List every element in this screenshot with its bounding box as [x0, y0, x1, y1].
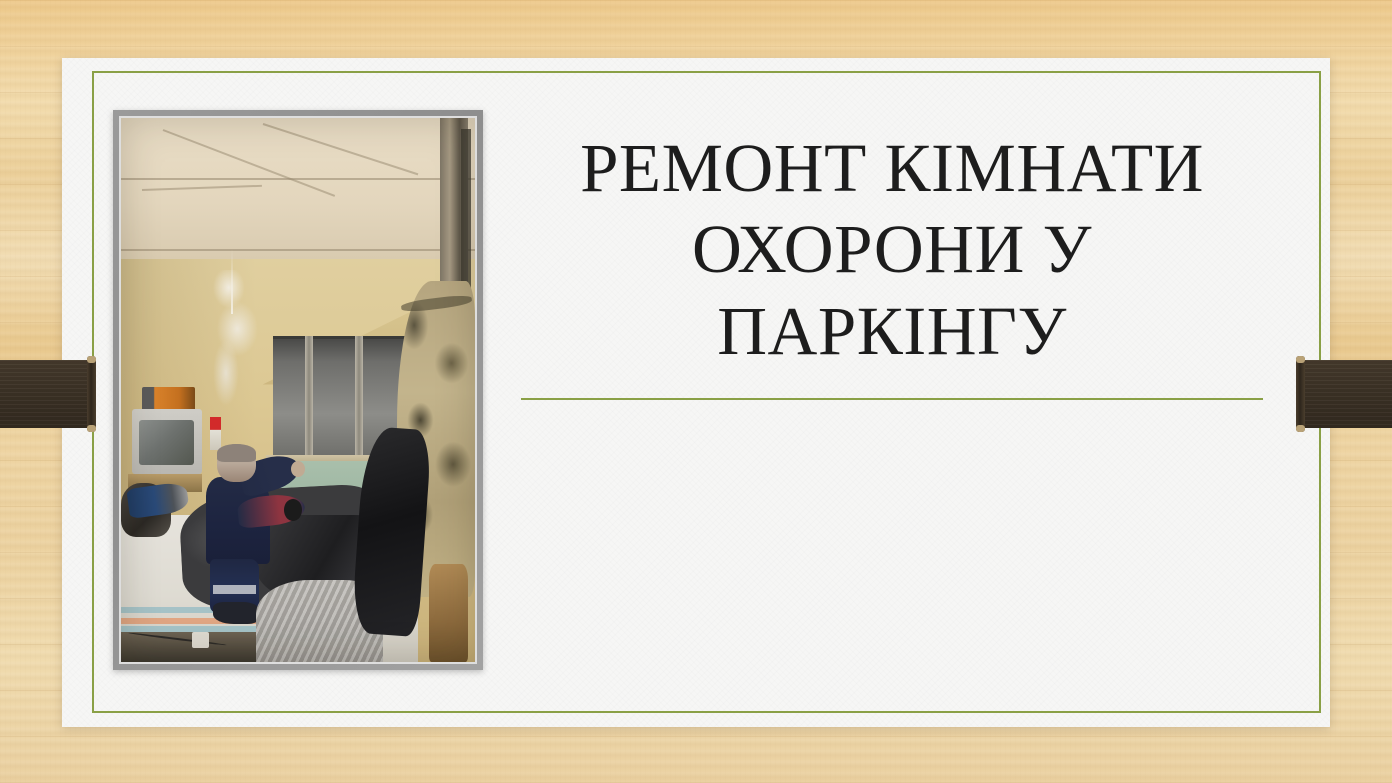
ribbon-banner-left [0, 360, 92, 428]
ribbon-roll-end-right [1296, 356, 1305, 432]
slide-content-card: РЕМОНТ КІМНАТИ ОХОРОНИ У ПАРКІНГУ [62, 58, 1330, 727]
photo-putty-drip [231, 249, 233, 314]
photo-putty-patch [206, 270, 263, 417]
slide-photo-frame[interactable] [113, 110, 483, 670]
photo-boot-right [429, 564, 468, 662]
presentation-slide: РЕМОНТ КІМНАТИ ОХОРОНИ У ПАРКІНГУ [0, 0, 1392, 783]
title-underline-rule [521, 398, 1263, 400]
photo-tv-screen [139, 420, 194, 465]
photo-worker-hand [291, 461, 305, 477]
photo-worker-hair [217, 444, 256, 461]
photo-fire-alarm [210, 417, 221, 450]
photo-ceiling-grid-line [121, 178, 475, 180]
photo-opening-mullion [305, 336, 313, 461]
photo-worker-boot [213, 602, 259, 624]
title-block: РЕМОНТ КІМНАТИ ОХОРОНИ У ПАРКІНГУ [521, 128, 1263, 400]
slide-photo [119, 116, 477, 664]
photo-opening-mullion [355, 336, 363, 461]
photo-hand-tool [284, 499, 302, 521]
ribbon-banner-right [1300, 360, 1392, 428]
photo-ceiling-grid-line [121, 249, 475, 251]
slide-title: РЕМОНТ КІМНАТИ ОХОРОНИ У ПАРКІНГУ [521, 128, 1263, 372]
photo-reflective-stripe [213, 585, 255, 594]
photo-plug [192, 632, 210, 648]
ribbon-roll-end-left [87, 356, 96, 432]
